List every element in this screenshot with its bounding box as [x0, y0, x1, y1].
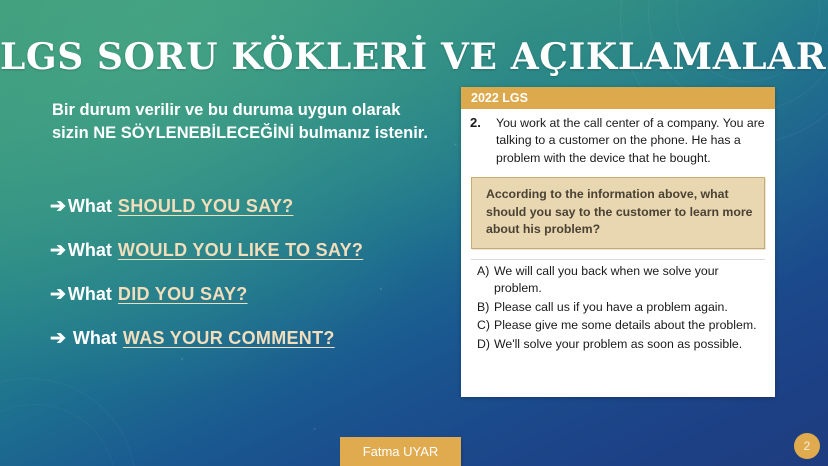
answer-option[interactable]: C) Please give me some details about the…	[471, 317, 765, 334]
page-title: LGS SORU KÖKLERİ VE AÇIKLAMALARI	[0, 36, 828, 78]
decorative-circle-icon	[0, 378, 136, 466]
bullet-highlight-text: WAS YOUR COMMENT?	[123, 328, 335, 349]
bullet-highlight-text: DID YOU SAY?	[118, 284, 248, 305]
list-item: ➔ What WAS YOUR COMMENT?	[50, 328, 450, 349]
answer-option-text: Please give me some details about the pr…	[494, 317, 765, 334]
answer-option[interactable]: D) We'll solve your problem as soon as p…	[471, 336, 765, 353]
author-badge: Fatma UYAR	[340, 437, 461, 466]
list-item: ➔ What SHOULD YOU SAY?	[50, 196, 450, 217]
decorative-circle-icon	[0, 404, 116, 466]
arrow-right-icon: ➔	[50, 285, 66, 304]
question-card-header: 2022 LGS	[461, 87, 775, 109]
answer-option-label: D)	[471, 336, 494, 353]
list-item: ➔ What DID YOU SAY?	[50, 284, 450, 305]
bullet-highlight-text: SHOULD YOU SAY?	[118, 196, 294, 217]
intro-paragraph: Bir durum verilir ve bu duruma uygun ola…	[52, 99, 432, 146]
bullet-lead-text: What	[68, 284, 112, 305]
arrow-right-icon: ➔	[50, 241, 66, 260]
question-card: 2022 LGS 2. You work at the call center …	[461, 87, 775, 397]
answer-option-label: C)	[471, 317, 494, 334]
bullet-lead-text: What	[73, 328, 117, 349]
list-item: ➔ What WOULD YOU LIKE TO SAY?	[50, 240, 450, 261]
answer-options-list: A) We will call you back when we solve y…	[471, 259, 765, 353]
answer-option-label: B)	[471, 299, 494, 316]
answer-option-text: Please call us if you have a problem aga…	[494, 299, 765, 316]
answer-option-text: We will call you back when we solve your…	[494, 263, 765, 298]
question-number: 2.	[470, 115, 496, 167]
answer-option[interactable]: A) We will call you back when we solve y…	[471, 263, 765, 298]
question-prompt-box: According to the information above, what…	[471, 177, 765, 248]
bullet-highlight-text: WOULD YOU LIKE TO SAY?	[118, 240, 363, 261]
bullet-list: ➔ What SHOULD YOU SAY? ➔ What WOULD YOU …	[50, 196, 450, 372]
question-stem-text: You work at the call center of a company…	[496, 115, 765, 167]
presentation-slide: LGS SORU KÖKLERİ VE AÇIKLAMALARI Bir dur…	[0, 0, 828, 466]
arrow-right-icon: ➔	[50, 197, 66, 216]
slide-number-badge: 2	[794, 433, 820, 459]
answer-option-text: We'll solve your problem as soon as poss…	[494, 336, 765, 353]
question-prompt-text: According to the information above, what…	[486, 186, 754, 238]
answer-option[interactable]: B) Please call us if you have a problem …	[471, 299, 765, 316]
arrow-right-icon: ➔	[50, 329, 66, 348]
bullet-lead-text: What	[68, 240, 112, 261]
answer-option-label: A)	[471, 263, 494, 298]
bullet-lead-text: What	[68, 196, 112, 217]
question-stem: 2. You work at the call center of a comp…	[461, 109, 775, 167]
